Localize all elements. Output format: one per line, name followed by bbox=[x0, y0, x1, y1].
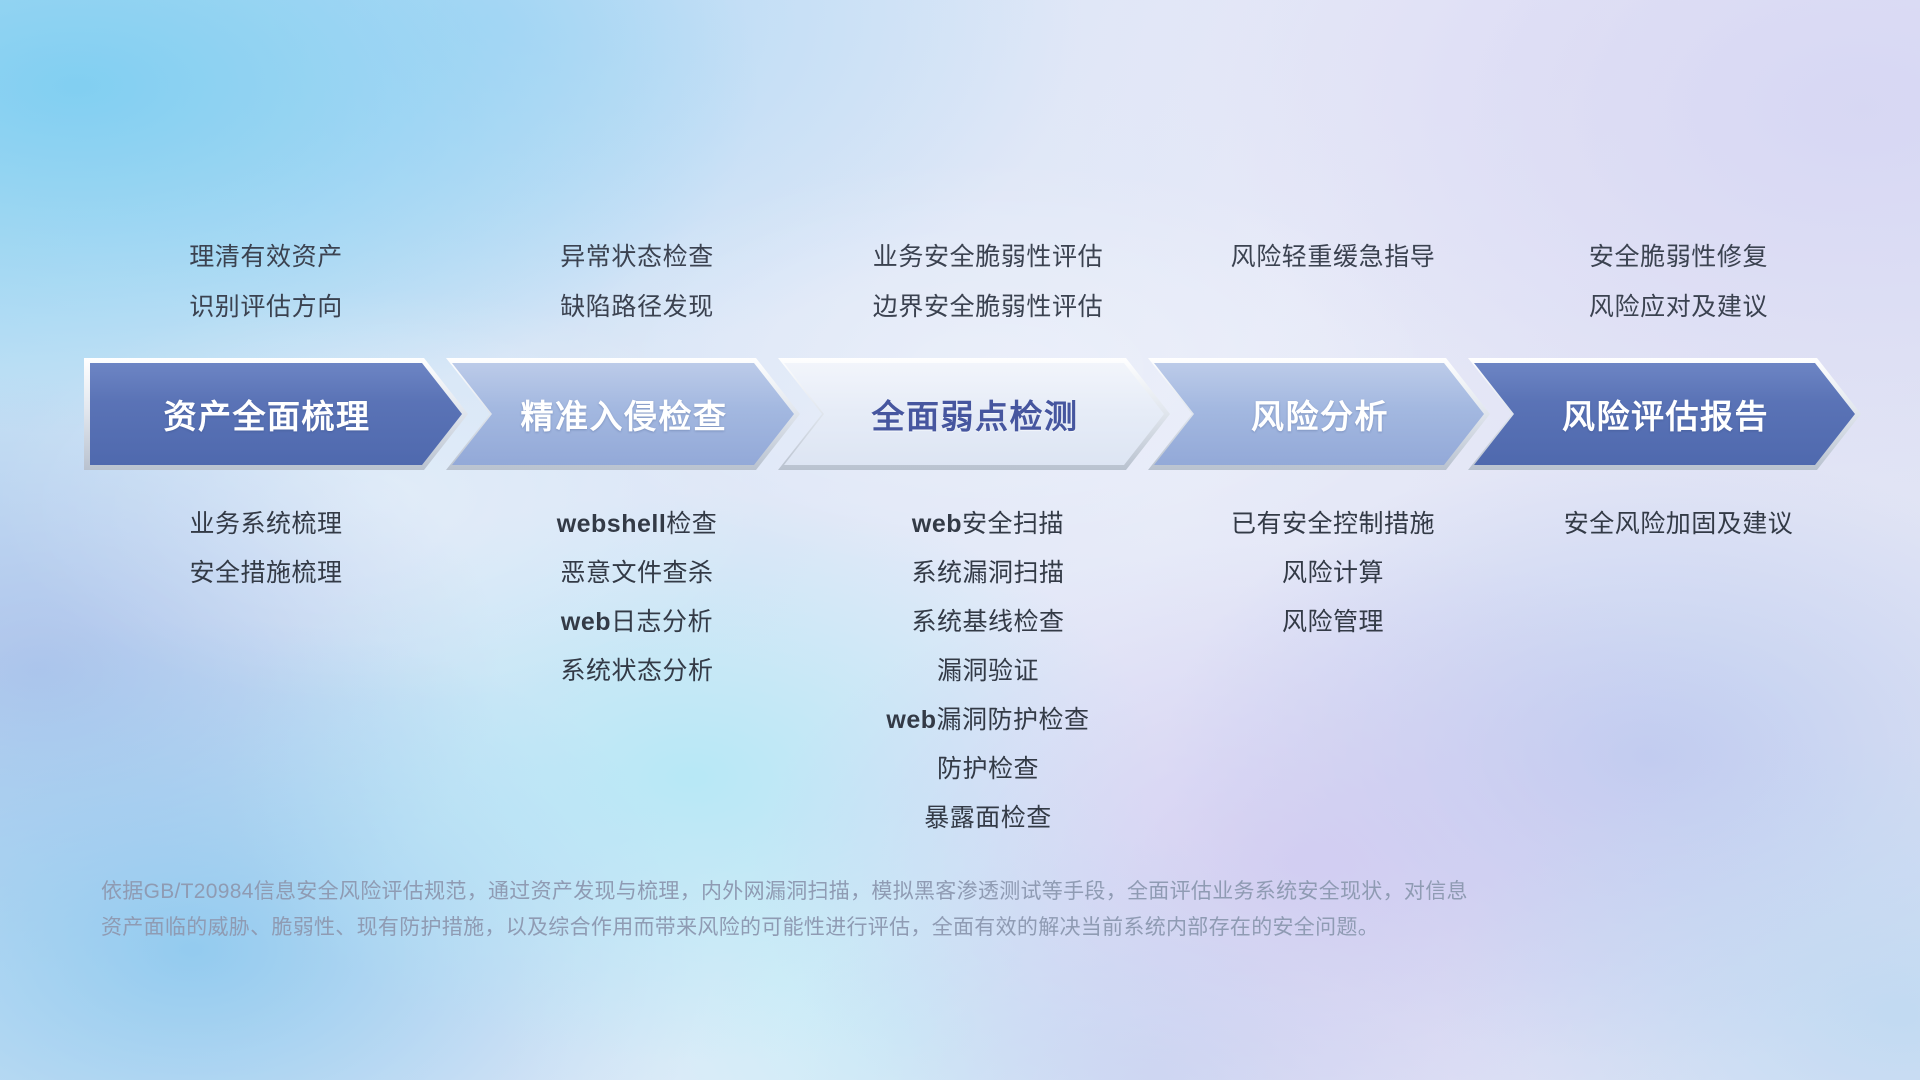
chevron-band: 资产全面梳理精准入侵检查全面弱点检测风险分析风险评估报告 bbox=[0, 363, 1920, 465]
stage-item: 风险计算 bbox=[1093, 549, 1573, 598]
stage-item: 漏洞验证 bbox=[748, 647, 1228, 696]
footer-line-1: 依据GB/T20984信息安全风险评估规范，通过资产发现与梳理，内外网漏洞扫描，… bbox=[101, 874, 1631, 910]
stage-item: web漏洞防护检查 bbox=[748, 696, 1228, 745]
process-diagram: 理清有效资产识别评估方向异常状态检查缺陷路径发现业务安全脆弱性评估边界安全脆弱性… bbox=[0, 0, 1920, 1080]
top-captions-row: 理清有效资产识别评估方向异常状态检查缺陷路径发现业务安全脆弱性评估边界安全脆弱性… bbox=[0, 232, 1920, 332]
chevron-label-asset-inventory: 资产全面梳理 bbox=[164, 390, 371, 438]
top-caption-group-risk-report: 安全脆弱性修复风险应对及建议 bbox=[1439, 232, 1919, 332]
stage-item: 安全风险加固及建议 bbox=[1439, 500, 1919, 549]
footer-description: 依据GB/T20984信息安全风险评估规范，通过资产发现与梳理，内外网漏洞扫描，… bbox=[101, 874, 1631, 946]
chevron-label-weakness-detection: 全面弱点检测 bbox=[872, 390, 1079, 438]
chevron-stage-weakness-detection[interactable]: 全面弱点检测 bbox=[784, 363, 1164, 465]
chevron-label-intrusion-check: 精准入侵检查 bbox=[521, 390, 728, 438]
chevron-stage-risk-analysis[interactable]: 风险分析 bbox=[1154, 363, 1484, 465]
chevron-stage-asset-inventory[interactable]: 资产全面梳理 bbox=[90, 363, 462, 465]
top-caption-line: 安全脆弱性修复 bbox=[1439, 232, 1919, 282]
stage-item: 暴露面检查 bbox=[748, 794, 1228, 843]
chevron-label-risk-analysis: 风险分析 bbox=[1251, 390, 1389, 438]
top-caption-line: 边界安全脆弱性评估 bbox=[748, 282, 1228, 332]
stage-item-list-risk-report: 安全风险加固及建议 bbox=[1439, 500, 1919, 549]
chevron-stage-risk-report[interactable]: 风险评估报告 bbox=[1474, 363, 1855, 465]
chevron-label-risk-report: 风险评估报告 bbox=[1562, 390, 1769, 438]
chevron-stage-intrusion-check[interactable]: 精准入侵检查 bbox=[452, 363, 794, 465]
stage-item: 防护检查 bbox=[748, 745, 1228, 794]
stage-item: 风险管理 bbox=[1093, 598, 1573, 647]
footer-line-2: 资产面临的威胁、脆弱性、现有防护措施，以及综合作用而带来风险的可能性进行评估，全… bbox=[101, 910, 1631, 946]
top-caption-line: 风险应对及建议 bbox=[1439, 282, 1919, 332]
